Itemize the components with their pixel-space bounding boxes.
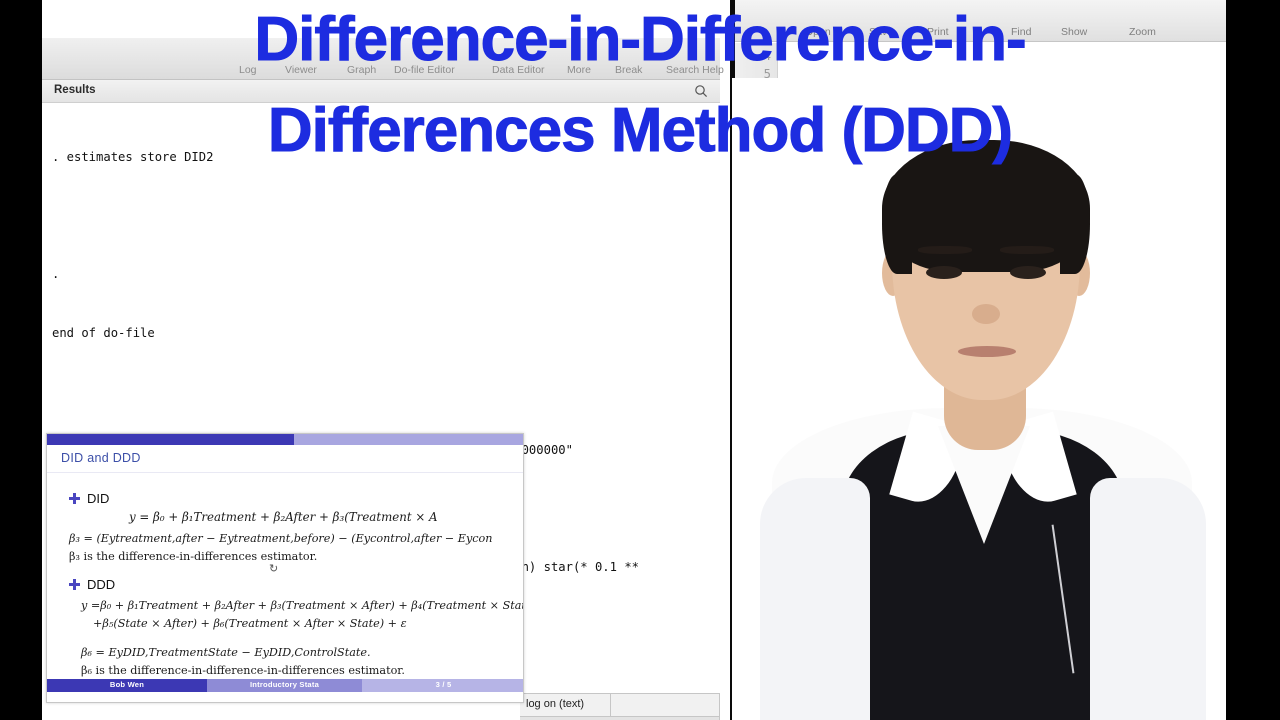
presenter-figure [732, 78, 1226, 720]
toolbar-search-help[interactable]: Search Help [666, 64, 724, 76]
hair-side-left [882, 174, 912, 274]
bullet-label: DDD [87, 577, 115, 592]
log-status-label: log on (text) [526, 698, 584, 710]
slide-footer-course: Introductory Stata [207, 680, 362, 689]
results-panel-title: Results [54, 84, 96, 96]
letterbox-bar-right [1226, 0, 1280, 720]
eye-right [1010, 266, 1046, 279]
eyebrow-left [918, 246, 972, 254]
output-line: . estimates store DID2 [52, 148, 720, 168]
mouse-cursor-icon: ↻ [269, 562, 278, 575]
slide-footer-author-cell: Bob Wen [47, 679, 207, 692]
output-line: . [52, 265, 720, 285]
slide-header-segment-2 [294, 434, 524, 445]
slide-bottom-edge [47, 692, 524, 702]
mouth [958, 346, 1016, 357]
slide-title-divider [47, 472, 524, 473]
dofile-toolbar-zoom[interactable]: Zoom [1129, 26, 1156, 38]
bullet-marker-icon [69, 493, 80, 504]
slide-header-segment-1 [47, 434, 294, 445]
slide-footer-page-cell: 3 / 5 [362, 679, 524, 692]
toolbar-more[interactable]: More [567, 64, 591, 76]
did-equation-beta3: β₃ = (Eytreatment,after − Eytreatment,be… [69, 532, 492, 545]
status-divider [610, 694, 611, 718]
hair [882, 140, 1090, 272]
slide-footer-course-cell: Introductory Stata [207, 679, 362, 692]
toolbar-do-file-editor[interactable]: Do-file Editor [394, 64, 455, 76]
stata-toolbar: Log Viewer Graph Do-file Editor Data Edi… [42, 38, 720, 80]
dofile-toolbar-show[interactable]: Show [1061, 26, 1087, 38]
bullet-marker-icon [69, 579, 80, 590]
slide-footer-author: Bob Wen [47, 680, 207, 689]
letterbox-bar-left [0, 0, 42, 720]
slide-bullet-did: DID [69, 490, 109, 508]
ddd-equation-line2: +β₅(State × After) + β₆(Treatment × Afte… [93, 617, 407, 630]
status-bar: log on (text) [520, 693, 720, 717]
results-titlebar: Results [42, 80, 720, 103]
presenter-webcam-main [732, 78, 1226, 720]
toolbar-viewer[interactable]: Viewer [285, 64, 317, 76]
dofile-toolbar-print[interactable]: Print [927, 26, 949, 38]
ddd-equation-beta6: β₆ = EyDID,TreatmentState − EyDID,Contro… [81, 646, 371, 659]
line-number: 4 [764, 47, 771, 65]
slide-footer: Bob Wen Introductory Stata 3 / 5 [47, 679, 524, 692]
dofile-toolbar-save[interactable]: Save [869, 26, 893, 38]
did-equation-main: y = β₀ + β₁Treatment + β₂After + β₃(Trea… [129, 510, 437, 524]
search-icon[interactable] [694, 84, 708, 98]
slide-bullet-ddd: DDD [69, 576, 115, 594]
toolbar-data-editor[interactable]: Data Editor [492, 64, 545, 76]
toolbar-log[interactable]: Log [239, 64, 257, 76]
dofile-toolbar-find[interactable]: Find [1011, 26, 1031, 38]
arm-left [760, 478, 870, 720]
presentation-slide-panel[interactable]: DID and DDD DID y = β₀ + β₁Treatment + β… [46, 433, 524, 703]
video-frame: Log Viewer Graph Do-file Editor Data Edi… [0, 0, 1280, 720]
nose [972, 304, 1000, 324]
eyebrow-right [1000, 246, 1054, 254]
dofile-toolbar-open[interactable]: Open [805, 26, 831, 38]
ddd-equation-line1: y =β₀ + β₁Treatment + β₂After + β₃(Treat… [81, 599, 524, 612]
ddd-equation-note: β₆ is the difference-in-difference-in-di… [81, 664, 405, 677]
output-line: end of do-file [52, 324, 720, 344]
bullet-label: DID [87, 491, 109, 506]
eye-left [926, 266, 962, 279]
arm-right [1090, 478, 1206, 720]
hair-side-right [1060, 174, 1090, 274]
do-file-editor-toolbar: Open Save Print Find Show Zoom [735, 0, 1226, 42]
output-line [52, 207, 720, 227]
screen-capture-area: Log Viewer Graph Do-file Editor Data Edi… [42, 0, 1226, 720]
toolbar-graph[interactable]: Graph [347, 64, 376, 76]
slide-header-bar [47, 434, 524, 445]
slide-footer-page: 3 / 5 [362, 680, 524, 689]
slide-title: DID and DDD [61, 451, 141, 465]
toolbar-break[interactable]: Break [615, 64, 642, 76]
output-line [52, 382, 720, 402]
did-equation-note: β₃ is the difference-in-differences esti… [69, 550, 317, 563]
